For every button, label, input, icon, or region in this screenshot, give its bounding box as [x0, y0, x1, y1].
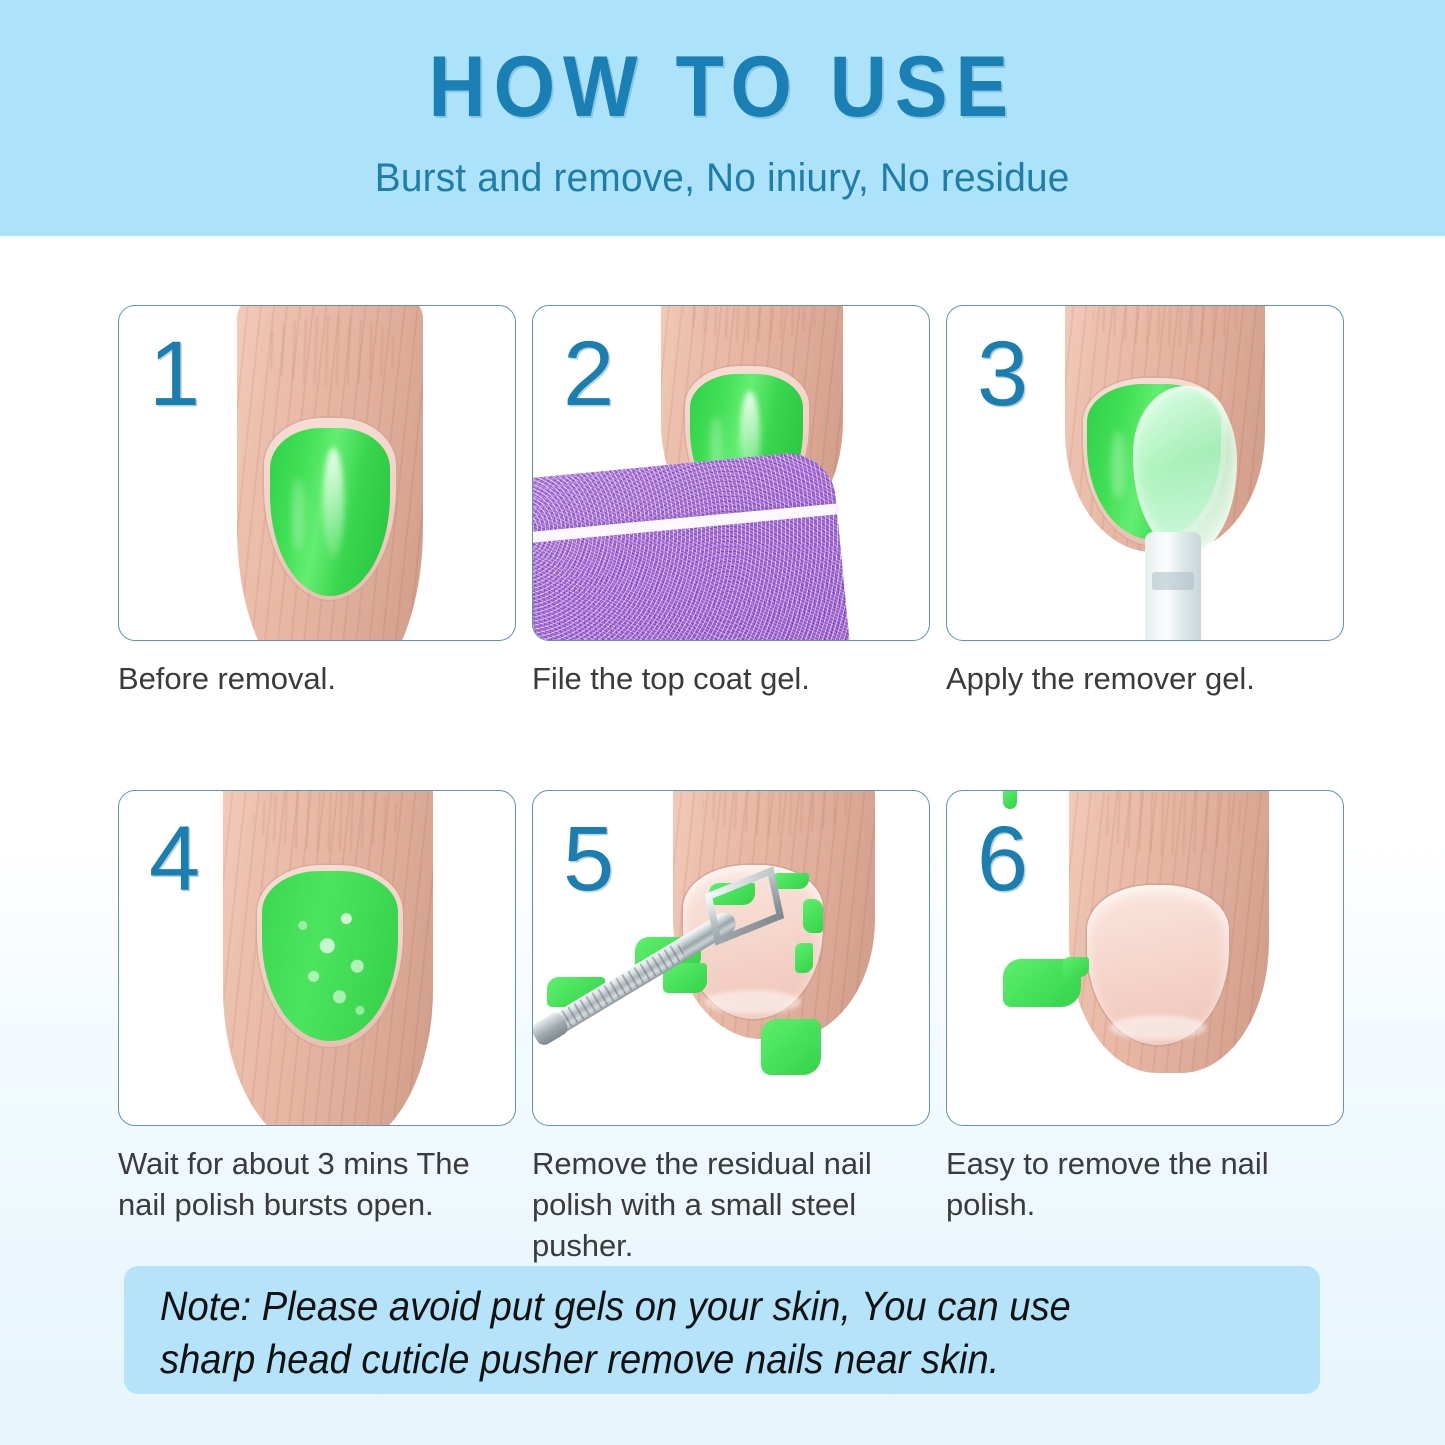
step-card-3: 3: [946, 305, 1344, 641]
step-card-6: 6: [946, 790, 1344, 1126]
step-caption-5: Remove the residual nail polish with a s…: [532, 1143, 930, 1267]
step-caption-6: Easy to remove the nail polish.: [946, 1143, 1344, 1225]
note-line-2: sharp head cuticle pusher remove nails n…: [160, 1333, 1207, 1386]
step-cell-2: 2 File the top coat gel.: [532, 305, 930, 750]
step-caption-1: Before removal.: [118, 658, 516, 699]
step-caption-4: Wait for about 3 mins The nail polish bu…: [118, 1143, 516, 1225]
step-cell-1: 1 Before removal.: [118, 305, 516, 750]
step-number-6: 6: [977, 813, 1028, 905]
step-number-5: 5: [563, 813, 614, 905]
note-line-1: Note: Please avoid put gels on your skin…: [160, 1280, 1207, 1333]
page-title: HOW TO USE: [429, 44, 1017, 130]
note-box: Note: Please avoid put gels on your skin…: [124, 1266, 1320, 1394]
header-band: HOW TO USE Burst and remove, No iniury, …: [0, 0, 1445, 236]
step-cell-3: 3 Apply the remover gel.: [946, 305, 1344, 750]
step-caption-2: File the top coat gel.: [532, 658, 930, 699]
step-card-5: 5: [532, 790, 930, 1126]
step-card-1: 1: [118, 305, 516, 641]
step-number-3: 3: [977, 328, 1028, 420]
step-card-2: 2: [532, 305, 930, 641]
step-caption-3: Apply the remover gel.: [946, 658, 1344, 699]
step-card-4: 4: [118, 790, 516, 1126]
page-subtitle: Burst and remove, No iniury, No residue: [375, 156, 1070, 201]
steps-grid: 1 Before removal. 2 Fi: [118, 305, 1340, 790]
step-number-4: 4: [149, 813, 200, 905]
step-number-1: 1: [149, 328, 200, 420]
infographic-page: HOW TO USE Burst and remove, No iniury, …: [0, 0, 1445, 1445]
step-number-2: 2: [563, 328, 614, 420]
